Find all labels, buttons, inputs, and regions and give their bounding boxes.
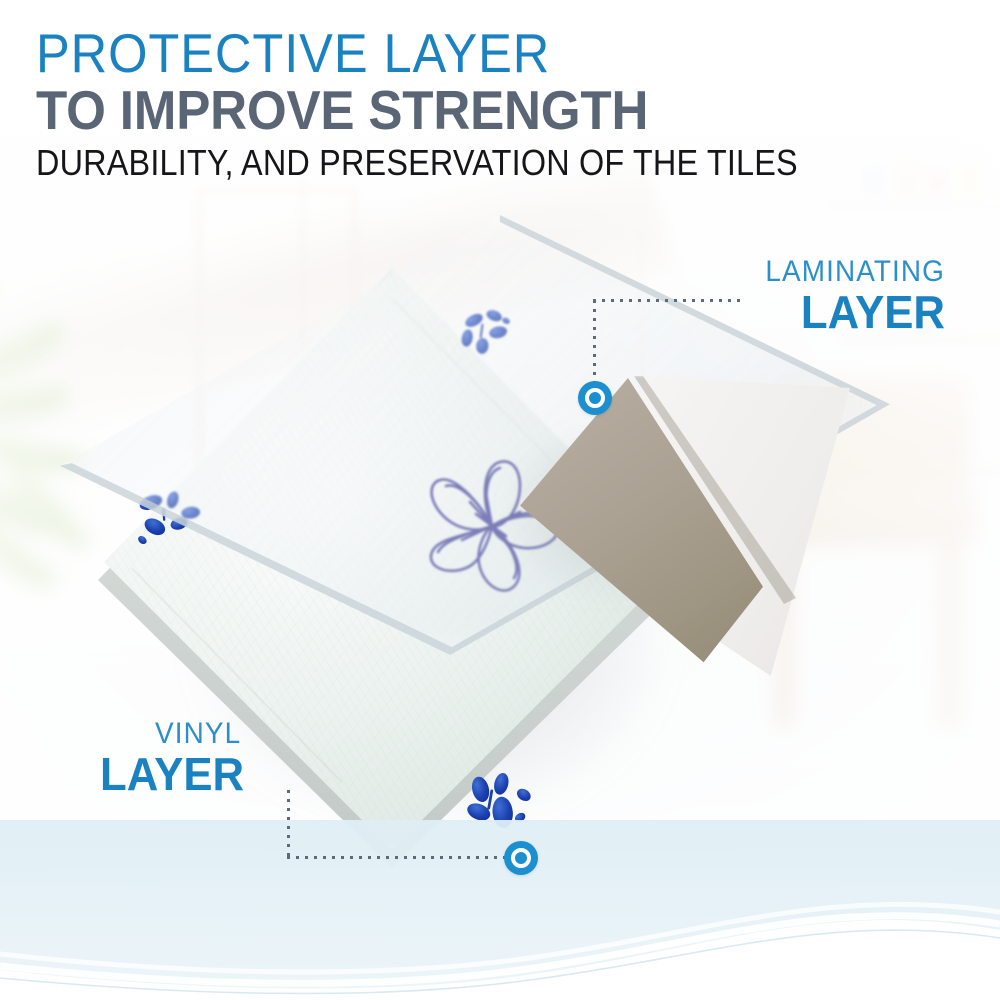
bottom-wave-decoration — [0, 820, 1000, 1000]
headline-line-3: DURABILITY, AND PRESERVATION OF THE TILE… — [36, 142, 846, 184]
headline-line-1: PROTECTIVE LAYER — [36, 24, 864, 82]
vinyl-leader-vertical — [287, 790, 290, 859]
headline-block: PROTECTIVE LAYER TO IMPROVE STRENGTH DUR… — [36, 24, 936, 184]
headline-line-2: TO IMPROVE STRENGTH — [36, 80, 873, 140]
laminating-layer-label-bold: LAYER — [617, 288, 945, 336]
poster-canvas: PROTECTIVE LAYER TO IMPROVE STRENGTH DUR… — [0, 0, 1000, 1000]
vinyl-layer-callout[interactable]: VINYL LAYER — [100, 718, 400, 798]
laminating-layer-label-thin: LAMINATING — [624, 256, 945, 288]
vinyl-leader-horizontal — [287, 856, 509, 859]
vinyl-layer-marker[interactable] — [504, 841, 538, 875]
laminating-layer-marker[interactable] — [578, 381, 612, 415]
laminating-leader-vertical — [593, 300, 596, 384]
vinyl-layer-label-thin: VINYL — [155, 718, 383, 750]
laminating-leader-horizontal — [593, 299, 745, 302]
vinyl-layer-label-bold: LAYER — [100, 750, 385, 798]
laminating-layer-callout[interactable]: LAMINATING LAYER — [600, 256, 945, 336]
